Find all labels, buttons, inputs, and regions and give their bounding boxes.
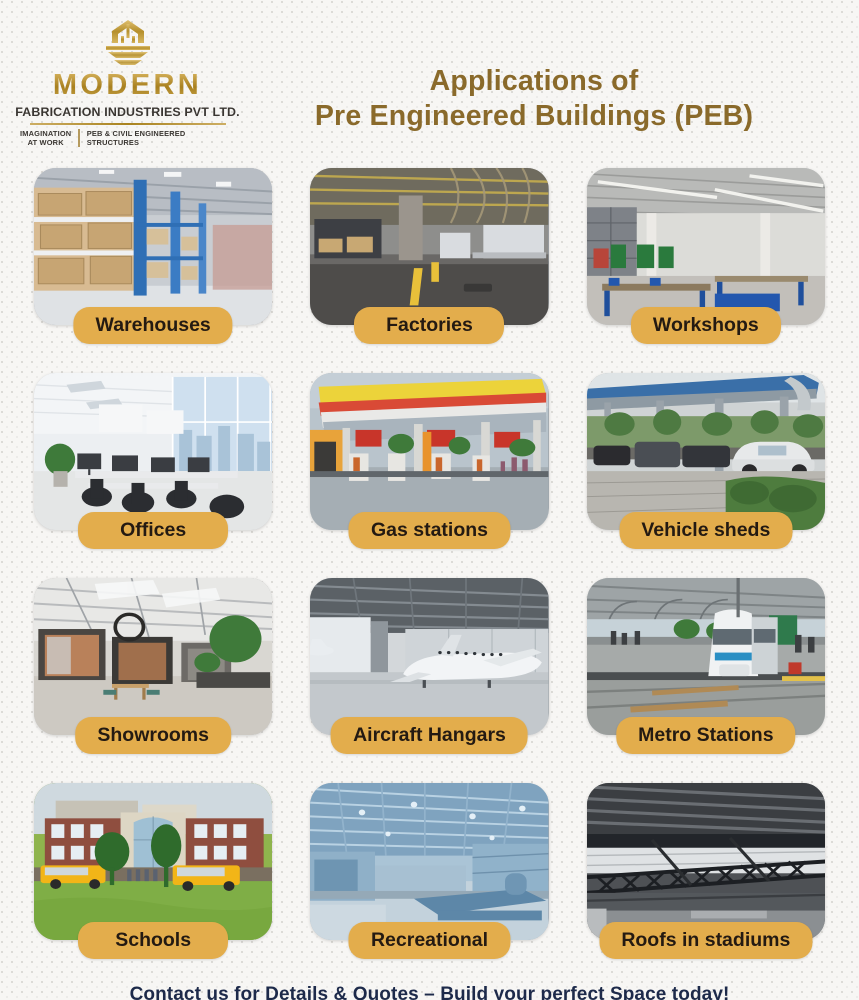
brand-tagline-left: IMAGINATION AT WORK: [20, 129, 71, 148]
application-card[interactable]: Aircraft Hangars: [298, 570, 560, 766]
factory-floor-photo: [310, 168, 548, 325]
building-emblem-icon: [96, 18, 160, 68]
application-card[interactable]: Roofs in stadiums: [575, 775, 837, 971]
application-label[interactable]: Factories: [354, 307, 504, 344]
aircraft-hangar-photo: [310, 578, 548, 735]
peb-applications-poster: MODERN FABRICATION INDUSTRIES PVT LTD. I…: [0, 0, 859, 1000]
page-title-line2: Pre Engineered Buildings (PEB): [235, 99, 833, 134]
application-label[interactable]: Showrooms: [75, 717, 231, 754]
application-card[interactable]: Factories: [298, 160, 560, 356]
workshop-interior-photo: [587, 168, 825, 325]
application-card[interactable]: Offices: [22, 365, 284, 561]
brand-vertical-divider: [78, 129, 79, 147]
application-label[interactable]: Workshops: [631, 307, 781, 344]
stadium-roof-truss-photo: [587, 783, 825, 940]
application-label[interactable]: Schools: [78, 922, 228, 959]
application-label[interactable]: Recreational: [349, 922, 510, 959]
footer-cta: Contact us for Details & Quotes – Build …: [0, 971, 859, 1000]
application-label[interactable]: Metro Stations: [616, 717, 795, 754]
brand-tagline-right: PEB & CIVIL ENGINEERED STRUCTURES: [87, 129, 235, 147]
application-card[interactable]: Recreational: [298, 775, 560, 971]
application-card[interactable]: Vehicle sheds: [575, 365, 837, 561]
brand-tagline-row: IMAGINATION AT WORK PEB & CIVIL ENGINEER…: [20, 129, 235, 148]
application-label[interactable]: Offices: [78, 512, 228, 549]
school-building-buses-photo: [34, 783, 272, 940]
application-card[interactable]: Metro Stations: [575, 570, 837, 766]
application-card[interactable]: Schools: [22, 775, 284, 971]
company-logo: MODERN FABRICATION INDUSTRIES PVT LTD. I…: [20, 14, 235, 147]
application-label[interactable]: Aircraft Hangars: [331, 717, 528, 754]
page-title-line1: Applications of: [235, 64, 833, 99]
brand-tagline-left-line1: IMAGINATION: [20, 129, 71, 138]
application-card[interactable]: Warehouses: [22, 160, 284, 356]
brand-name: MODERN: [53, 71, 202, 100]
page-title: Applications of Pre Engineered Buildings…: [235, 14, 833, 134]
gas-station-forecourt-photo: [310, 373, 548, 530]
brand-subtitle: FABRICATION INDUSTRIES PVT LTD.: [15, 105, 239, 119]
poster-header: MODERN FABRICATION INDUSTRIES PVT LTD. I…: [0, 0, 859, 160]
brand-tagline-left-line2: AT WORK: [20, 138, 71, 147]
industrial-hall-photo: [310, 783, 548, 940]
application-label[interactable]: Gas stations: [349, 512, 510, 549]
metro-station-platform-photo: [587, 578, 825, 735]
application-label[interactable]: Roofs in stadiums: [599, 922, 812, 959]
showroom-interior-photo: [34, 578, 272, 735]
application-card[interactable]: Workshops: [575, 160, 837, 356]
application-label[interactable]: Warehouses: [74, 307, 233, 344]
open-plan-office-photo: [34, 373, 272, 530]
application-card[interactable]: Showrooms: [22, 570, 284, 766]
vehicle-shed-carport-photo: [587, 373, 825, 530]
warehouse-interior-photo: [34, 168, 272, 325]
brand-divider-rule: [30, 123, 226, 125]
application-card[interactable]: Gas stations: [298, 365, 560, 561]
applications-grid: Warehouses: [0, 160, 859, 971]
application-label[interactable]: Vehicle sheds: [619, 512, 792, 549]
